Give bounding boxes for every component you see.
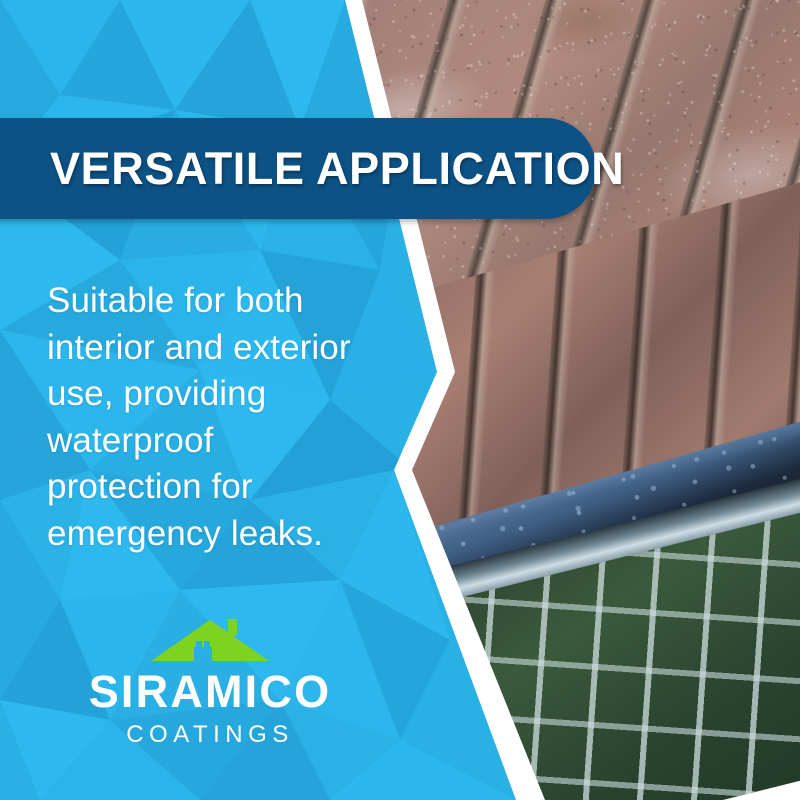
headline-banner: VERSATILE APPLICATION <box>0 118 596 219</box>
brand-name: SIRAMICO <box>0 669 420 714</box>
brand-logo: SIRAMICO COATINGS <box>0 615 420 747</box>
page-title: VERSATILE APPLICATION <box>50 146 624 191</box>
house-roof-icon <box>150 615 270 663</box>
body-paragraph: Suitable for both interior and exterior … <box>47 278 377 557</box>
promo-graphic: VERSATILE APPLICATION Suitable for both … <box>0 0 800 800</box>
brand-tagline: COATINGS <box>0 723 420 747</box>
